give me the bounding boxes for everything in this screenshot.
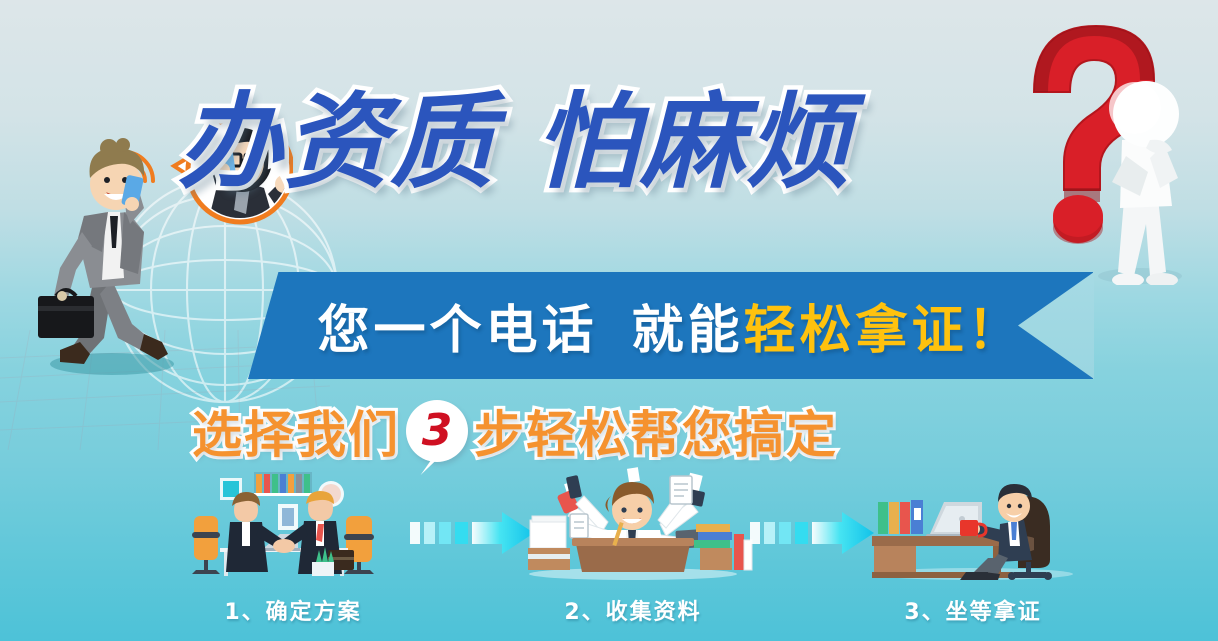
ribbon-text: 您一个电话就能轻松拿证！ [248,272,1093,379]
step-caption-2: 2、收集资料 [508,594,758,626]
step-item-1[interactable]: 1、确定方案 [168,462,418,626]
headline-part-2: 怕麻烦 [534,81,852,203]
steps-row: 1、确定方案 [0,462,1218,641]
step-item-3[interactable]: 3、坐等拿证 [848,462,1098,626]
busy-office-worker-illustration [508,462,758,580]
ribbon-text-highlight: 轻松拿证！ [744,288,1024,363]
headline-part-1: 办资质 [178,81,496,203]
page-title: 办资质怕麻烦 [0,84,1030,200]
step-caption-1: 1、确定方案 [168,594,418,626]
step-item-2[interactable]: 2、收集资料 [508,462,758,626]
ribbon-text-secondary: 就能 [631,288,743,363]
handshake-meeting-illustration [168,462,418,580]
step-caption-3: 3、坐等拿证 [848,594,1098,626]
step-count-bubble: 3 [406,400,468,462]
promo-banner: 办资质怕麻烦 [0,0,1218,641]
subtitle-line: 选择我们 3 步轻松帮您搞定 [0,395,1030,467]
relaxed-businessman-laptop-illustration [848,462,1098,580]
step-count-number: 3 [406,400,468,462]
subtitle-before: 选择我们 [192,395,400,467]
subtitle-after: 步轻松帮您搞定 [474,395,838,467]
question-mark-illustration [1000,10,1215,285]
ribbon-text-primary: 您一个电话 [317,288,597,363]
